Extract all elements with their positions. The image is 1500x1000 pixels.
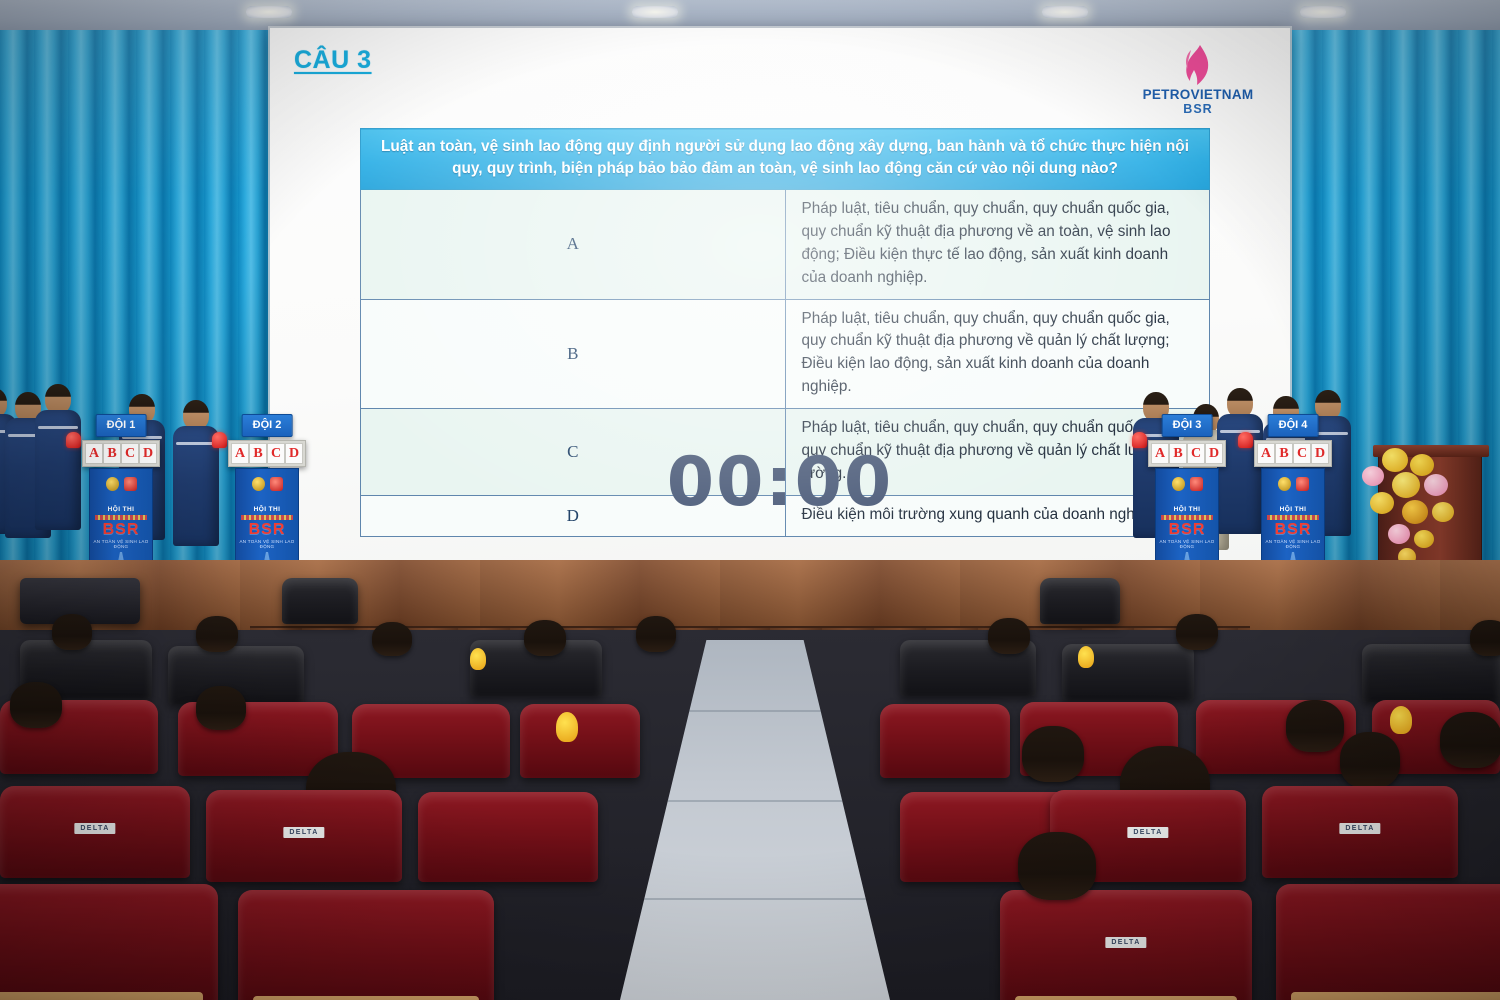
answer-card-tray-3[interactable]: A B C D [1148, 440, 1226, 467]
answer-card-d[interactable]: D [1311, 443, 1329, 464]
answer-card-c[interactable]: C [267, 443, 285, 464]
ceiling-light [632, 6, 678, 18]
answer-card-b[interactable]: B [103, 443, 121, 464]
audience-seat [1276, 884, 1500, 1000]
answer-card-b[interactable]: B [249, 443, 267, 464]
answer-card-a[interactable]: A [1257, 443, 1275, 464]
podium-brand-label: BSR [90, 521, 152, 539]
audience-head [1440, 712, 1500, 768]
audience-head [196, 616, 238, 652]
podium-hoi-thi-label: HỘI THI [236, 506, 298, 513]
audience-seat [880, 704, 1010, 778]
stage-chair [1040, 578, 1120, 624]
answer-card-d[interactable]: D [285, 443, 303, 464]
audience-head [10, 682, 62, 728]
answer-card-a[interactable]: A [231, 443, 249, 464]
answer-card-tray-4[interactable]: A B C D [1254, 440, 1332, 467]
answer-letter-b: B [361, 299, 786, 409]
audience-seat [520, 704, 640, 778]
answer-text-a: Pháp luật, tiêu chuẩn, quy chuẩn, quy ch… [785, 189, 1210, 299]
answer-card-a[interactable]: A [1151, 443, 1169, 464]
aisle-flower [470, 648, 486, 670]
answer-card-b[interactable]: B [1169, 443, 1187, 464]
aisle-flower [1078, 646, 1094, 668]
podium-brand-label: BSR [236, 521, 298, 539]
logo-brand-name: PETROVIETNAM [1138, 88, 1258, 102]
audience-head [1286, 700, 1344, 752]
audience-head [52, 614, 92, 650]
team-sign-3: ĐỘI 3 [1162, 414, 1213, 437]
audience-head [1176, 614, 1218, 650]
answer-row-b[interactable]: B Pháp luật, tiêu chuẩn, quy chuẩn, quy … [361, 299, 1210, 409]
answer-text-b: Pháp luật, tiêu chuẩn, quy chuẩn, quy ch… [785, 299, 1210, 409]
podium-hoi-thi-label: HỘI THI [1262, 506, 1324, 513]
podium-brand-label: BSR [1156, 521, 1218, 539]
stage-chair [282, 578, 358, 624]
answer-card-tray-1[interactable]: A B C D [82, 440, 160, 467]
answer-card-a[interactable]: A [85, 443, 103, 464]
podium-tagline: AN TOÀN VỆ SINH LAO ĐỘNG [1156, 539, 1218, 549]
aisle-flower [556, 712, 578, 742]
answer-card-d[interactable]: D [1205, 443, 1223, 464]
team-sign-2: ĐỘI 2 [242, 414, 293, 437]
ceiling-light [1300, 6, 1346, 18]
audience-head [372, 622, 412, 656]
audience-head [1022, 726, 1084, 782]
team-sign-1: ĐỘI 1 [96, 414, 147, 437]
team-sign-4: ĐỘI 4 [1268, 414, 1319, 437]
buzzer-button[interactable] [66, 432, 81, 448]
audience-head [1340, 732, 1400, 788]
ceiling-light [246, 6, 292, 18]
seat-label: DELTA [74, 823, 115, 834]
answer-card-c[interactable]: C [121, 443, 139, 464]
audience-head [196, 686, 246, 730]
ceiling-light [1042, 6, 1088, 18]
audience-head [524, 620, 566, 656]
audience-seat: DELTA [1262, 786, 1458, 878]
audience-head [1018, 832, 1096, 900]
audience-seat: DELTA [0, 786, 190, 878]
aisle-flower [1390, 706, 1412, 734]
podium-tagline: AN TOÀN VỆ SINH LAO ĐỘNG [90, 539, 152, 549]
podium-tagline: AN TOÀN VỆ SINH LAO ĐỘNG [1262, 539, 1324, 549]
answer-row-a[interactable]: A Pháp luật, tiêu chuẩn, quy chuẩn, quy … [361, 189, 1210, 299]
podium-hoi-thi-label: HỘI THI [90, 506, 152, 513]
question-text: Luật an toàn, vệ sinh lao động quy định … [361, 129, 1210, 190]
slide-question-number: CÂU 3 [294, 46, 372, 75]
podium-hoi-thi-label: HỘI THI [1156, 506, 1218, 513]
flower-bouquet [1352, 444, 1470, 576]
logo-brand-sub: BSR [1138, 102, 1258, 116]
buzzer-button[interactable] [1132, 432, 1147, 448]
flame-icon [1175, 44, 1221, 86]
seat-label: DELTA [1339, 823, 1380, 834]
answer-card-c[interactable]: C [1293, 443, 1311, 464]
buzzer-button[interactable] [1238, 432, 1253, 448]
audience-seat [238, 890, 494, 1000]
seat-label: DELTA [283, 827, 324, 838]
audience-seat: DELTA [206, 790, 402, 882]
auditorium-scene: CÂU 3 PETROVIETNAM BSR Luật an toàn, vệ … [0, 0, 1500, 1000]
audience-head [636, 616, 676, 652]
seat-label: DELTA [1127, 827, 1168, 838]
question-header-row: Luật an toàn, vệ sinh lao động quy định … [361, 129, 1210, 190]
answer-card-b[interactable]: B [1275, 443, 1293, 464]
answer-card-d[interactable]: D [139, 443, 157, 464]
audience-head [988, 618, 1030, 654]
seat-label: DELTA [1105, 937, 1146, 948]
audience-seat: DELTA [1000, 890, 1252, 1000]
buzzer-button[interactable] [212, 432, 227, 448]
answer-letter-a: A [361, 189, 786, 299]
audience-seat [0, 884, 218, 1000]
answer-card-c[interactable]: C [1187, 443, 1205, 464]
podium-brand-label: BSR [1262, 521, 1324, 539]
answer-card-tray-2[interactable]: A B C D [228, 440, 306, 467]
podium-tagline: AN TOÀN VỆ SINH LAO ĐỘNG [236, 539, 298, 549]
audience-seat [418, 792, 598, 882]
petrovietnam-bsr-logo: PETROVIETNAM BSR [1138, 44, 1258, 117]
audience-head [1470, 620, 1500, 656]
